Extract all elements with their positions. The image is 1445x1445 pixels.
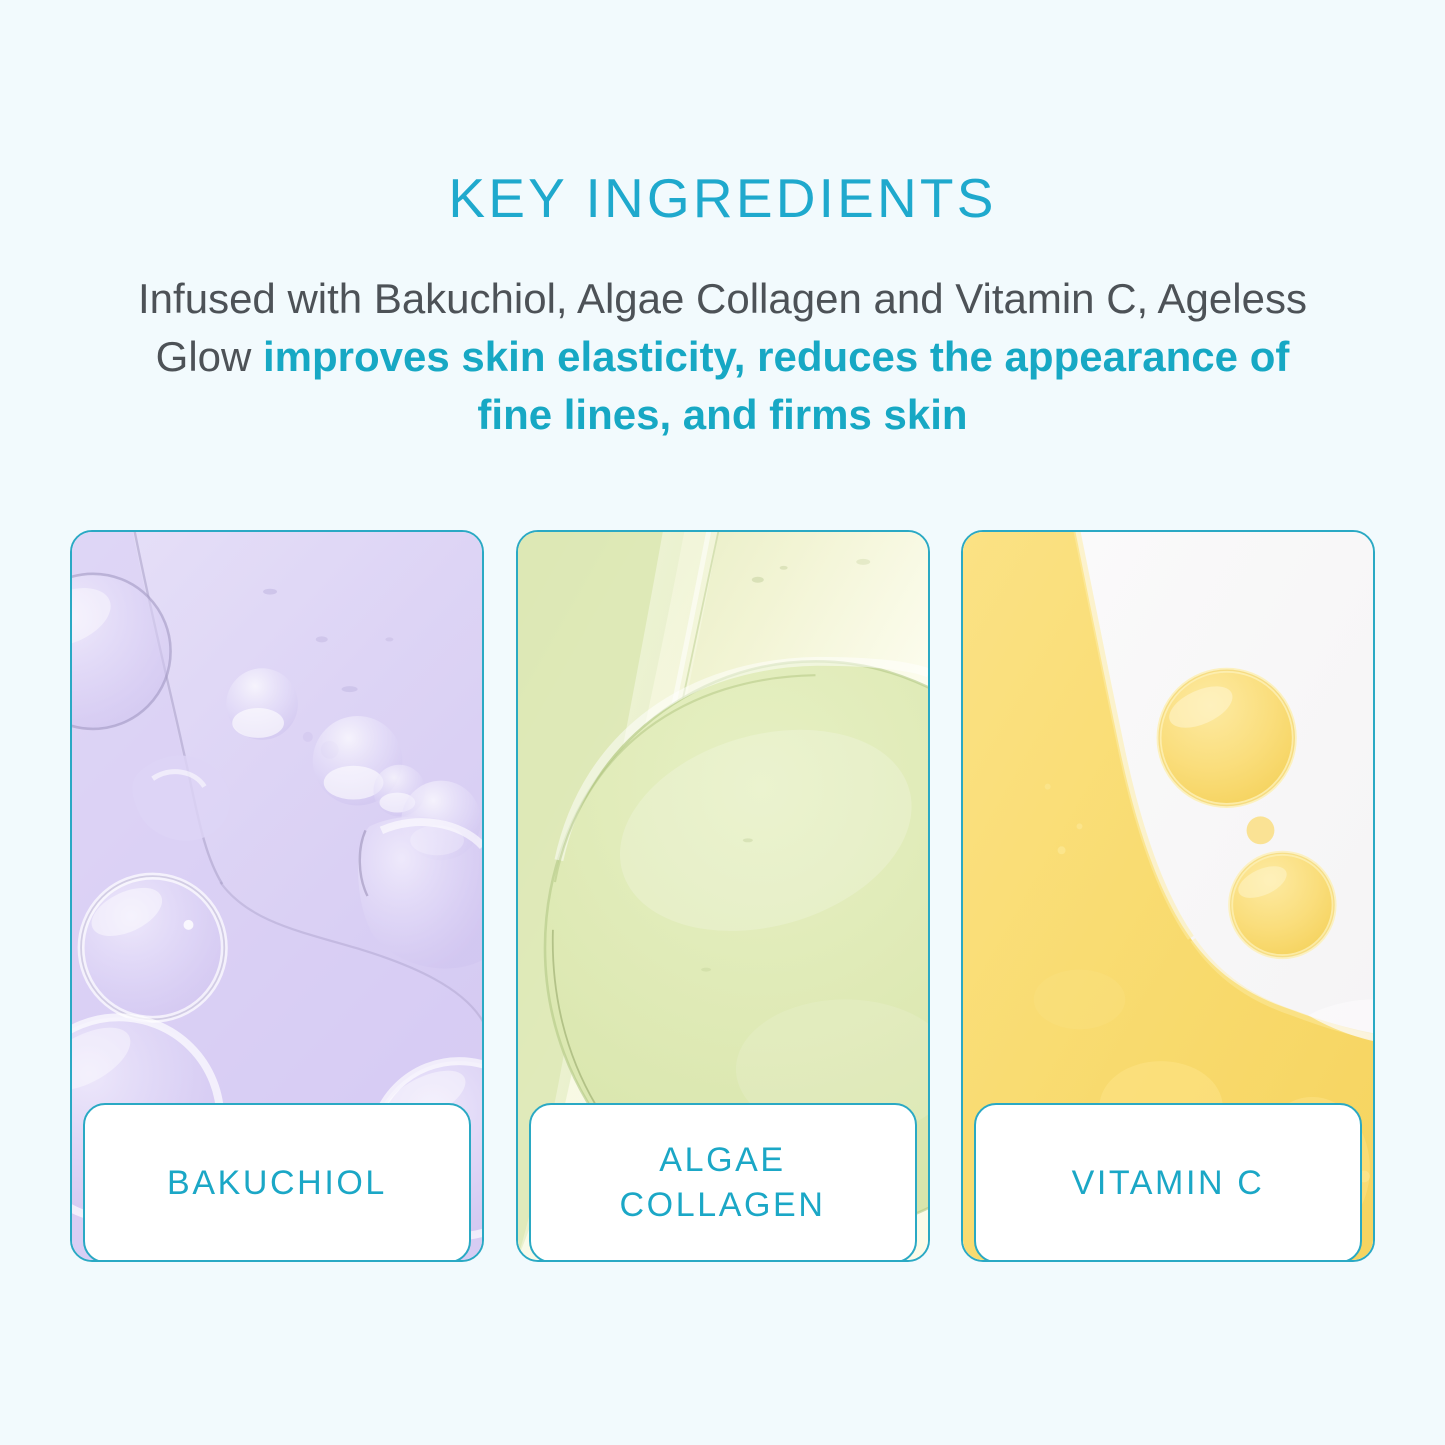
bubble-lower-left <box>81 876 224 1019</box>
oil-droplet-upper-right <box>1159 670 1294 805</box>
page-subtitle: Infused with Bakuchiol, Algae Collagen a… <box>0 270 1445 444</box>
infographic-page: KEY INGREDIENTS Infused with Bakuchiol, … <box>0 0 1445 1445</box>
card-label-algae-collagen: ALGAE COLLAGEN <box>529 1103 917 1262</box>
ingredient-card-bakuchiol[interactable]: BAKUCHIOL <box>70 530 484 1262</box>
card-label-vitamin-c: VITAMIN C <box>974 1103 1362 1262</box>
subtitle-highlight-text: improves skin elasticity, reduces the ap… <box>263 333 1289 438</box>
ingredient-card-vitamin-c[interactable]: VITAMIN C <box>961 530 1375 1262</box>
page-title: KEY INGREDIENTS <box>0 170 1445 228</box>
ingredient-cards-row: BAKUCHIOL <box>70 530 1375 1262</box>
oil-droplet-right-middle <box>1231 853 1334 956</box>
card-label-bakuchiol: BAKUCHIOL <box>83 1103 471 1262</box>
card-label-text: ALGAE COLLAGEN <box>620 1138 826 1228</box>
header: KEY INGREDIENTS Infused with Bakuchiol, … <box>0 170 1445 444</box>
card-label-text: VITAMIN C <box>1072 1161 1265 1206</box>
ingredient-card-algae-collagen[interactable]: ALGAE COLLAGEN <box>516 530 930 1262</box>
card-label-text: BAKUCHIOL <box>167 1161 387 1206</box>
